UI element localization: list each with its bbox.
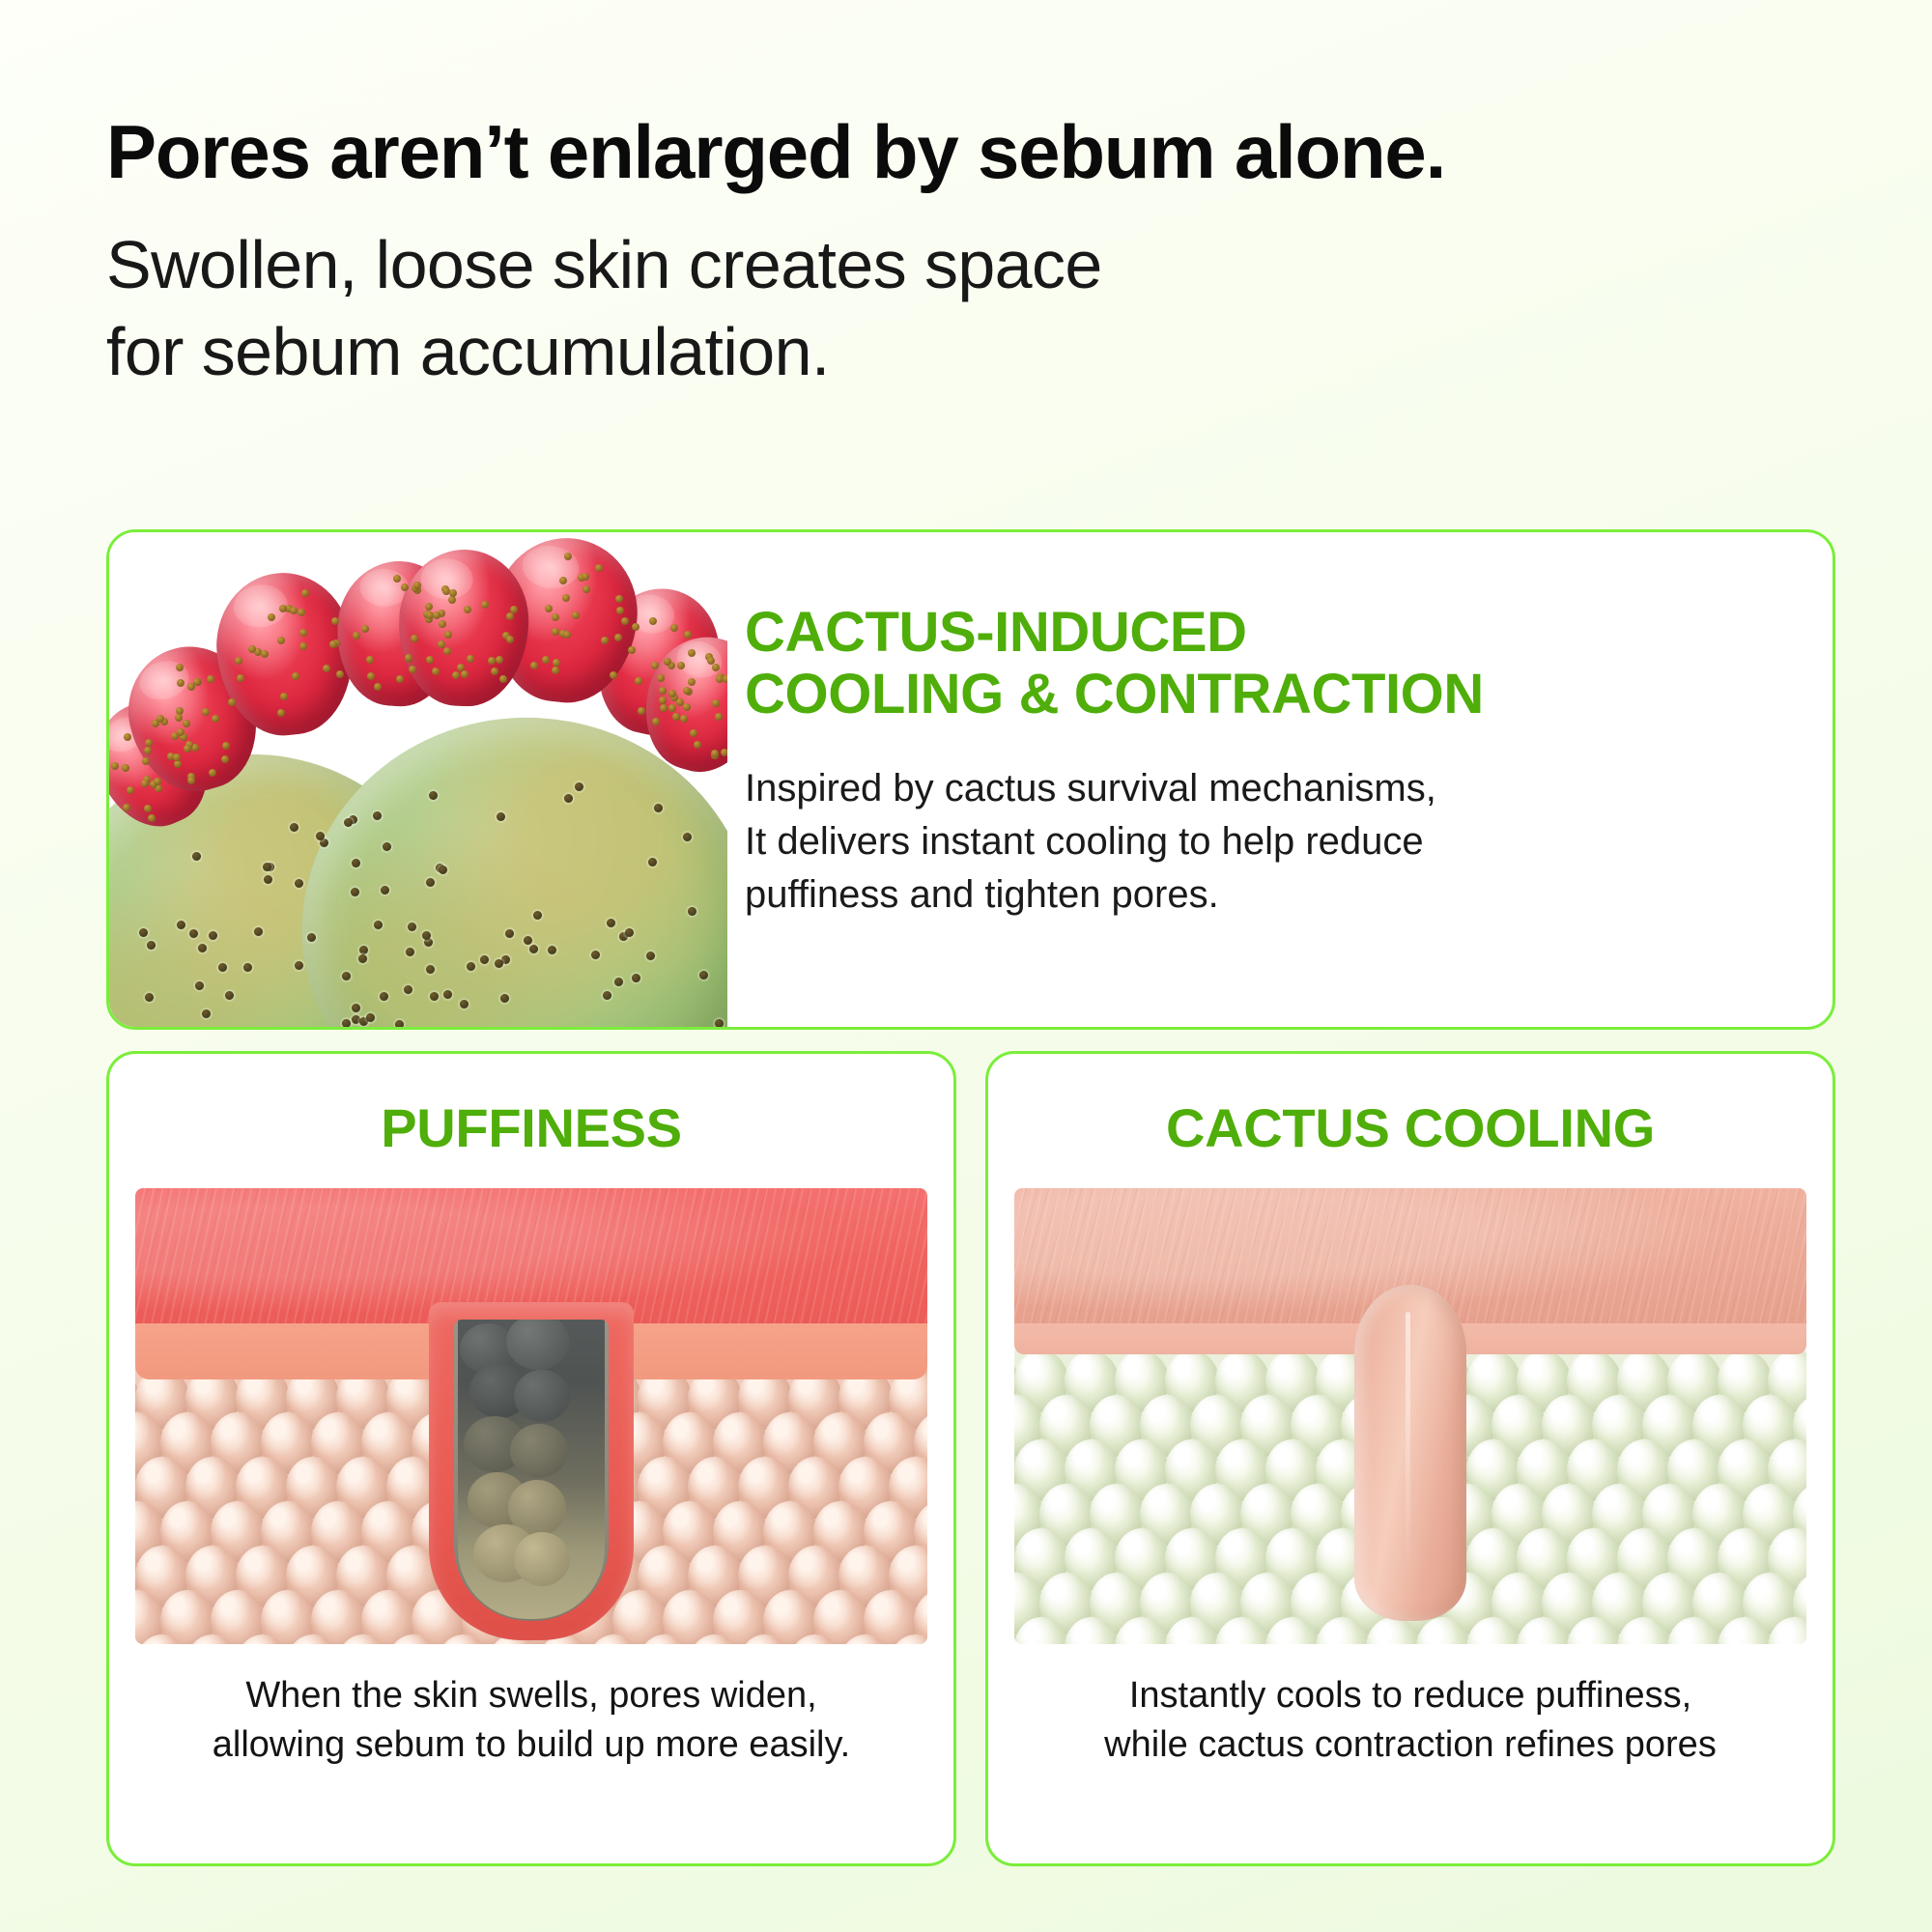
puffiness-skin-diagram <box>135 1188 927 1644</box>
fruit-spine <box>141 780 149 787</box>
puffiness-card: PUFFINESS <box>106 1051 956 1866</box>
cactus-areole <box>395 1020 404 1027</box>
cactus-feature-card: CACTUS-INDUCED COOLING & CONTRACTION Ins… <box>106 529 1835 1030</box>
fruit-spine <box>144 747 152 754</box>
cactus-areole <box>147 941 156 950</box>
cactus-areole <box>209 931 217 940</box>
cactus-areole <box>198 944 207 952</box>
puffiness-caption-line-1: When the skin swells, pores widen, <box>134 1671 928 1720</box>
fruit-spine <box>235 657 242 665</box>
fruit-spine <box>127 786 134 794</box>
cactus-areole <box>380 992 388 1001</box>
cactus-areole <box>467 962 475 971</box>
cactus-areole <box>254 927 263 936</box>
header: Pores aren’t enlarged by sebum alone. Sw… <box>106 114 1845 395</box>
fruit-spine <box>715 713 723 721</box>
fruit-spine <box>542 656 550 664</box>
fruit-spine <box>491 668 498 675</box>
cactus-areole <box>591 951 600 959</box>
fruit-spine <box>582 573 589 581</box>
fruit-spine <box>177 679 185 687</box>
cactus-areole <box>358 954 367 963</box>
fruit-spine <box>299 642 307 650</box>
cactus-areole <box>383 842 391 851</box>
fruit-spine <box>680 715 688 723</box>
fruit-spine <box>175 714 183 722</box>
cactus-areole <box>443 990 452 999</box>
fruit-spine <box>683 687 691 695</box>
cactus-areole <box>295 961 303 970</box>
cactus-areole <box>145 993 154 1002</box>
fruit-spine <box>552 628 559 636</box>
page-subheadline: Swollen, loose skin creates space for se… <box>106 222 1845 395</box>
cactus-areole <box>307 933 316 942</box>
cactus-areole <box>429 791 438 800</box>
fruit-spine <box>723 675 727 683</box>
cactus-areole <box>139 928 148 937</box>
cactus-cooling-card-title: CACTUS COOLING <box>988 1054 1833 1159</box>
fruit-spine <box>649 617 657 625</box>
cactus-card-body-line-1: Inspired by cactus survival mechanisms, <box>745 762 1775 815</box>
fruit-spine <box>559 577 567 584</box>
fruit-spine <box>552 613 559 621</box>
fruit-spine <box>336 670 344 678</box>
fruit-spine <box>323 665 330 672</box>
cactus-areole <box>290 823 298 832</box>
fruit-spine <box>582 585 590 593</box>
fruit-spine <box>712 664 720 671</box>
fruit-spine <box>443 647 451 655</box>
cactus-areole <box>683 833 692 841</box>
fruit-spine <box>277 709 285 717</box>
cactus-areole <box>439 866 447 874</box>
fruit-spine <box>659 687 667 695</box>
fruit-spine <box>563 631 571 639</box>
fruit-spine <box>672 713 680 721</box>
cactus-areole <box>688 907 696 916</box>
fruit-spine <box>331 617 339 625</box>
fruit-spine <box>367 672 375 680</box>
cactus-areole <box>715 1019 724 1027</box>
fruit-spine <box>299 629 307 637</box>
cactus-areole <box>505 929 514 938</box>
fruit-spine <box>298 609 305 616</box>
fruit-spine <box>496 656 503 664</box>
fruit-spine <box>688 649 696 657</box>
cactus-areole <box>352 1004 360 1012</box>
fruit-spine <box>481 601 489 609</box>
fruit-spine <box>711 750 719 757</box>
fruit-spine <box>628 646 636 654</box>
fruit-spine <box>595 564 603 572</box>
fruit-spine <box>432 668 440 675</box>
fruit-spine <box>488 657 496 665</box>
fruit-spine <box>444 631 452 639</box>
fruit-spine <box>145 739 153 747</box>
fruit-spine <box>664 658 671 666</box>
cactus-areole <box>607 919 615 927</box>
fruit-spine <box>562 594 570 602</box>
cactus-areole <box>426 965 435 974</box>
fruit-spine <box>353 632 360 639</box>
fruit-spine <box>142 757 150 765</box>
puffiness-caption-line-2: allowing sebum to build up more easily. <box>134 1720 928 1770</box>
cactus-card-title-line-2: COOLING & CONTRACTION <box>745 664 1775 725</box>
fruit-spine <box>173 753 181 761</box>
fruit-spine <box>684 631 692 639</box>
fruit-spine <box>660 704 668 712</box>
fruit-spine <box>610 671 617 679</box>
fruit-spine <box>616 607 624 614</box>
fruit-spine <box>222 742 230 750</box>
fruit-spine <box>601 637 609 644</box>
cactus-areole <box>381 886 389 895</box>
cactus-areole <box>625 928 634 937</box>
fruit-spine <box>670 624 678 632</box>
fruit-spine <box>638 707 645 715</box>
cactus-areole <box>218 963 227 972</box>
fruit-spine <box>449 589 457 597</box>
fruit-spine <box>635 677 642 685</box>
fruit-spine <box>361 625 369 633</box>
cactus-areole <box>406 948 414 956</box>
fruit-spine <box>467 655 474 663</box>
fruit-spine <box>652 718 660 725</box>
fruit-spine <box>248 645 256 653</box>
pore-lumen <box>454 1320 609 1621</box>
cactus-areole <box>480 955 489 964</box>
cactus-areole <box>564 794 573 803</box>
fruit-spine <box>690 729 697 737</box>
cactus-areole <box>603 991 611 1000</box>
cactus-areole <box>342 1019 351 1027</box>
fruit-spine <box>683 703 691 711</box>
fruit-spine <box>426 656 434 664</box>
cactus-areole <box>646 952 655 960</box>
fruit-spine <box>261 650 269 658</box>
fruit-spine <box>448 596 456 604</box>
cactus-areole <box>654 804 663 812</box>
fruit-spine <box>184 745 191 753</box>
cactus-areole <box>195 981 204 990</box>
fruit-spine <box>499 675 507 683</box>
cactus-areole <box>699 971 708 980</box>
subheadline-line-2: for sebum accumulation. <box>106 309 1845 396</box>
fruit-spine <box>564 553 572 560</box>
fruit-spine <box>506 636 514 643</box>
fruit-spine <box>614 634 622 641</box>
fruit-spine <box>615 595 623 603</box>
cactus-areole <box>548 946 556 954</box>
cactus-areole <box>202 1009 211 1018</box>
fruit-spine <box>148 814 156 822</box>
cactus-areole <box>373 811 382 820</box>
cactus-areole <box>632 974 640 982</box>
subheadline-line-1: Swollen, loose skin creates space <box>106 222 1845 309</box>
fruit-spine <box>396 675 404 683</box>
cactus-card-body-line-3: puffiness and tighten pores. <box>745 868 1775 922</box>
cactus-areole <box>352 859 360 867</box>
cactus-areole <box>648 858 657 867</box>
fruit-spine <box>228 698 236 706</box>
cactus-areole <box>495 959 503 968</box>
fruit-spine <box>530 662 538 669</box>
fruit-spine <box>187 777 195 784</box>
fruit-spine <box>721 749 727 756</box>
fruit-spine <box>464 606 471 613</box>
cactus-areole <box>243 963 252 972</box>
cactus-areole <box>529 945 538 953</box>
sebum-blob <box>514 1532 570 1586</box>
fruit-spine <box>433 611 440 619</box>
cactus-cooling-card-caption: Instantly cools to reduce puffiness, whi… <box>988 1671 1833 1770</box>
cactus-areole <box>366 1013 375 1022</box>
cactus-areole <box>264 875 272 884</box>
fruit-spine <box>506 612 514 620</box>
cactus-areole <box>497 812 505 821</box>
fruit-spine <box>144 805 152 812</box>
page-headline: Pores aren’t enlarged by sebum alone. <box>106 114 1845 189</box>
cactus-areole <box>614 978 623 986</box>
fruit-spine <box>280 693 288 700</box>
cactus-photo <box>109 532 727 1027</box>
cooling-caption-line-2: while cactus contraction refines pores <box>1013 1720 1807 1770</box>
fruit-spine <box>292 672 299 680</box>
cactus-card-body: Inspired by cactus survival mechanisms, … <box>745 762 1775 923</box>
fruit-spine <box>552 667 559 674</box>
fruit-spine <box>572 611 580 619</box>
widened-pore <box>429 1302 634 1640</box>
fruit-spine <box>277 637 285 644</box>
fruit-spine <box>374 683 382 691</box>
fruit-spine <box>176 664 184 671</box>
cooling-caption-line-1: Instantly cools to reduce puffiness, <box>1013 1671 1807 1720</box>
fruit-spine <box>329 640 337 648</box>
cactus-areole <box>351 888 359 896</box>
cactus-card-title-line-1: CACTUS-INDUCED <box>745 602 1775 664</box>
cactus-areole <box>295 879 303 888</box>
fruit-spine <box>632 623 639 631</box>
fruit-spine <box>237 674 244 682</box>
fruit-spine <box>301 589 309 597</box>
fruit-spine <box>621 617 629 625</box>
fruit-spine <box>657 674 665 682</box>
fruit-spine <box>393 575 401 582</box>
fruit-spine <box>123 804 130 811</box>
puffiness-card-title: PUFFINESS <box>109 1054 953 1159</box>
cactus-areole <box>344 818 353 827</box>
fruit-spine <box>425 603 433 611</box>
fruit-spine <box>409 666 416 673</box>
cactus-areole <box>575 782 583 791</box>
fruit-spine <box>452 671 460 679</box>
cactus-card-body-line-2: It delivers instant cooling to help redu… <box>745 815 1775 868</box>
fruit-spine <box>677 662 685 669</box>
cactus-areole <box>359 946 368 954</box>
fruit-spine <box>545 605 553 612</box>
sebum-blob <box>514 1370 570 1422</box>
fruit-spine <box>207 675 214 683</box>
puffiness-card-caption: When the skin swells, pores widen, allow… <box>109 1671 953 1770</box>
fruit-spine <box>183 720 190 727</box>
fruit-spine <box>177 728 185 736</box>
cactus-areole <box>225 991 234 1000</box>
fruit-spine <box>122 764 129 772</box>
cactus-areole <box>177 921 185 929</box>
cactus-areole <box>430 992 439 1001</box>
sebum-blob <box>510 1424 568 1478</box>
cactus-cooling-card: CACTUS COOLING Instantly cools to reduce… <box>985 1051 1835 1866</box>
fruit-spine <box>174 760 182 768</box>
cactus-areole <box>316 832 325 840</box>
fruit-spine <box>268 613 275 621</box>
cactus-areole <box>524 936 532 945</box>
fruit-spine <box>221 755 229 763</box>
cactus-areole <box>500 994 509 1003</box>
cactus-card-title: CACTUS-INDUCED COOLING & CONTRACTION <box>745 602 1775 725</box>
fruit-spine <box>668 704 676 712</box>
fruit-spine <box>438 640 445 648</box>
cactus-areole-spots <box>109 532 727 1027</box>
cactus-areole <box>408 923 416 931</box>
fruit-spine <box>712 699 720 707</box>
fruit-spine <box>411 635 418 642</box>
cooling-skin-diagram <box>1014 1188 1806 1644</box>
cactus-areole <box>374 921 383 929</box>
fruit-spine <box>688 678 696 686</box>
fruit-spine <box>439 620 446 628</box>
refined-pore <box>1354 1285 1466 1621</box>
cactus-areole <box>404 985 412 994</box>
cactus-areole <box>533 911 542 920</box>
cactus-areole <box>460 1000 469 1009</box>
fruit-spine <box>694 741 701 749</box>
fruit-spine <box>651 662 659 669</box>
cactus-areole <box>189 929 198 938</box>
fruit-spine <box>124 733 131 741</box>
fruit-spine <box>111 762 119 770</box>
cactus-areole <box>342 972 351 980</box>
fruit-spine <box>202 708 210 716</box>
cactus-areole <box>501 955 510 964</box>
fruit-spine <box>212 715 219 723</box>
fruit-spine <box>290 607 298 614</box>
cactus-card-text: CACTUS-INDUCED COOLING & CONTRACTION Ins… <box>727 532 1833 1027</box>
cactus-areole <box>192 852 201 861</box>
fruit-spine <box>209 769 216 777</box>
fruit-spine <box>401 583 409 591</box>
fruit-spine <box>659 696 667 704</box>
cactus-areole <box>426 878 435 887</box>
fruit-spine <box>154 778 161 785</box>
fruit-spine <box>366 656 374 664</box>
